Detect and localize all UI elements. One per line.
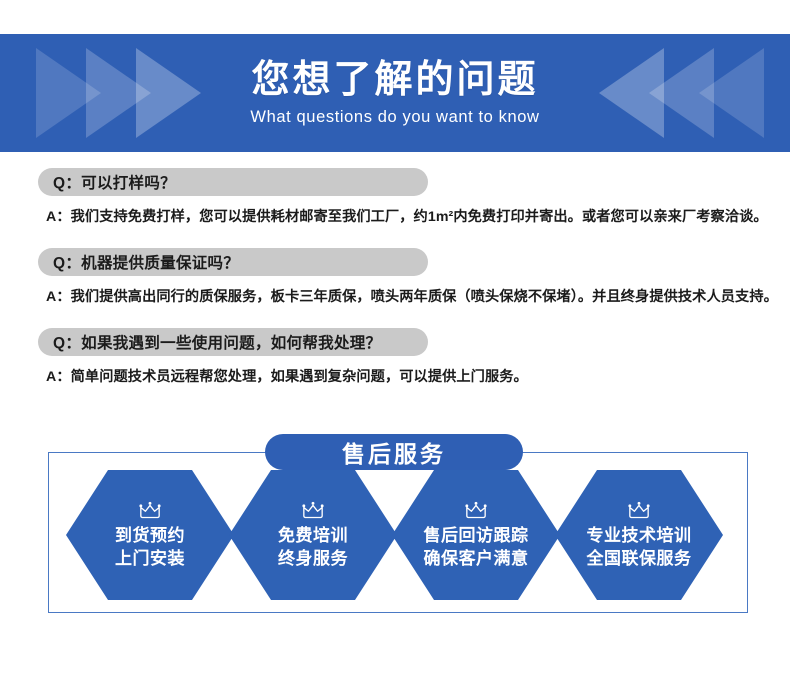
crown-icon xyxy=(136,500,164,520)
faq-item: Q：机器提供质量保证吗？ A：我们提供高出同行的质保服务，板卡三年质保，喷头两年… xyxy=(0,240,790,320)
page-header-banner: 您想了解的问题 What questions do you want to kn… xyxy=(0,34,790,152)
crown-icon xyxy=(462,500,490,520)
page-title: 您想了解的问题 xyxy=(251,59,538,102)
service-card-arrival-appointment[interactable]: 到货预约 上门安装 xyxy=(66,470,234,600)
service-card-line1: 免费培训 xyxy=(278,525,348,547)
faq-answer-text: A：我们支持免费打样，您可以提供耗材邮寄至我们工厂，约1m²内免费打印并寄出。或… xyxy=(46,206,768,226)
service-card-line1: 到货预约 xyxy=(115,525,185,547)
banner-text-block: 您想了解的问题 What questions do you want to kn… xyxy=(0,34,790,152)
service-card-line1: 专业技术培训 xyxy=(587,525,692,547)
faq-item: Q：可以打样吗？ A：我们支持免费打样，您可以提供耗材邮寄至我们工厂，约1m²内… xyxy=(0,160,790,240)
faq-item: Q：如果我遇到一些使用问题，如何帮我处理？ A：简单问题技术员远程帮您处理，如果… xyxy=(0,320,790,404)
service-card-line1: 售后回访跟踪 xyxy=(424,525,529,547)
faq-question-text: Q：可以打样吗？ xyxy=(53,171,176,193)
crown-icon xyxy=(625,500,653,520)
after-sales-hexagon-row: 到货预约 上门安装 免费培训 终身服务 售后回访跟踪 确保客户满意 专业技术培训 xyxy=(48,470,748,600)
service-card-line2: 确保客户满意 xyxy=(424,548,529,570)
faq-question-pill: Q：可以打样吗？ xyxy=(38,168,428,196)
service-card-line2: 终身服务 xyxy=(278,548,348,570)
service-card-line2: 上门安装 xyxy=(115,548,185,570)
service-card-technical-training[interactable]: 专业技术培训 全国联保服务 xyxy=(555,470,723,600)
service-card-followup-visit[interactable]: 售后回访跟踪 确保客户满意 xyxy=(392,470,560,600)
faq-answer-text: A：我们提供高出同行的质保服务，板卡三年质保，喷头两年质保（喷头保烧不保堵）。并… xyxy=(46,286,778,306)
faq-answer-text: A：简单问题技术员远程帮您处理，如果遇到复杂问题，可以提供上门服务。 xyxy=(46,366,528,386)
faq-list: Q：可以打样吗？ A：我们支持免费打样，您可以提供耗材邮寄至我们工厂，约1m²内… xyxy=(0,160,790,404)
faq-question-pill: Q：机器提供质量保证吗？ xyxy=(38,248,428,276)
service-card-line2: 全国联保服务 xyxy=(587,548,692,570)
crown-icon xyxy=(299,500,327,520)
service-card-free-training[interactable]: 免费培训 终身服务 xyxy=(229,470,397,600)
after-sales-heading-text: 售后服务 xyxy=(342,435,446,469)
faq-question-pill: Q：如果我遇到一些使用问题，如何帮我处理？ xyxy=(38,328,428,356)
page-subtitle: What questions do you want to know xyxy=(250,108,539,127)
faq-question-text: Q：机器提供质量保证吗？ xyxy=(53,251,239,273)
after-sales-heading-pill: 售后服务 xyxy=(265,434,523,470)
faq-question-text: Q：如果我遇到一些使用问题，如何帮我处理？ xyxy=(53,331,381,353)
